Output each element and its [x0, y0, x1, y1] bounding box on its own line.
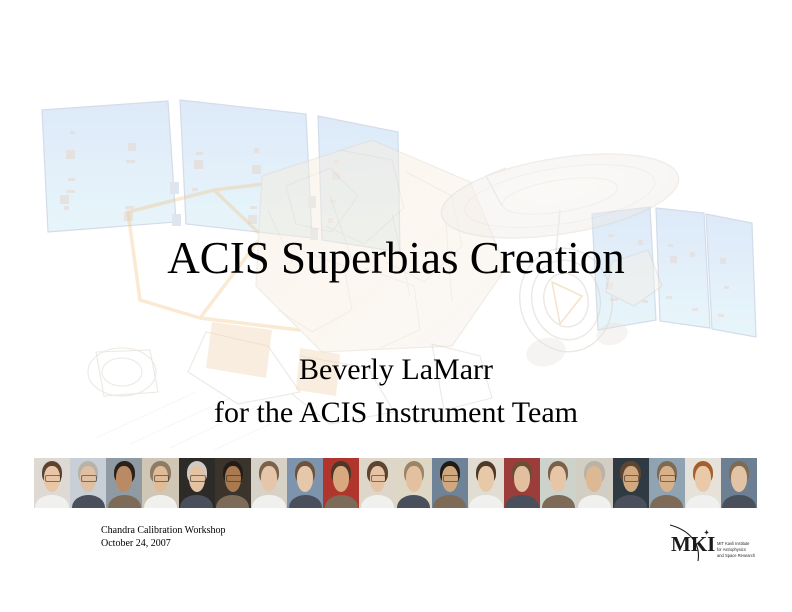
subtitle-author: Beverly LaMarr — [0, 348, 792, 391]
photo-glasses — [660, 475, 676, 482]
photo-face — [514, 466, 530, 492]
title-container: ACIS Superbias Creation — [0, 232, 792, 284]
team-member-photo — [685, 458, 721, 508]
page-title: ACIS Superbias Creation — [0, 232, 792, 284]
photo-glasses — [371, 475, 387, 482]
team-member-photo — [287, 458, 323, 508]
team-member-photo — [721, 458, 757, 508]
photo-glasses — [45, 475, 61, 482]
photo-glasses — [624, 475, 640, 482]
footer-date: October 24, 2007 — [101, 537, 226, 550]
team-member-photo — [34, 458, 70, 508]
team-member-photo — [432, 458, 468, 508]
photo-face — [261, 466, 277, 492]
photo-glasses — [154, 475, 170, 482]
logo-line-3: and Space Research — [717, 553, 756, 558]
team-member-photo — [142, 458, 178, 508]
team-member-photo — [613, 458, 649, 508]
team-member-photo — [215, 458, 251, 508]
photo-face — [406, 466, 422, 492]
subtitle-container: Beverly LaMarr for the ACIS Instrument T… — [0, 348, 792, 434]
mit-kavli-institute-logo: MKI MIT Kavli Institute for Astrophysics… — [663, 523, 769, 563]
acis-instrument-team-photo-strip — [34, 458, 757, 508]
team-member-photo — [70, 458, 106, 508]
presentation-slide: ACIS Superbias Creation Beverly LaMarr f… — [0, 0, 792, 612]
team-member-photo — [540, 458, 576, 508]
logo-line-2: for Astrophysics — [717, 547, 746, 552]
photo-glasses — [81, 475, 97, 482]
photo-glasses — [190, 475, 206, 482]
team-member-photo — [179, 458, 215, 508]
footer-event-name: Chandra Calibration Workshop — [101, 524, 226, 537]
team-member-photo — [649, 458, 685, 508]
logo-line-1: MIT Kavli Institute — [717, 541, 750, 546]
team-member-photo — [323, 458, 359, 508]
photo-glasses — [443, 475, 459, 482]
footer: Chandra Calibration Workshop October 24,… — [101, 524, 226, 550]
subtitle-team: for the ACIS Instrument Team — [0, 391, 792, 434]
photo-glasses — [226, 475, 242, 482]
photo-face — [731, 466, 747, 492]
team-member-photo — [396, 458, 432, 508]
team-member-photo — [359, 458, 395, 508]
chandra-spacecraft-watermark-image — [0, 0, 792, 612]
photo-face — [695, 466, 711, 492]
logo-mark-text: MKI — [671, 532, 715, 556]
team-member-photo — [251, 458, 287, 508]
team-member-photo — [576, 458, 612, 508]
team-member-photo — [504, 458, 540, 508]
team-member-photo — [468, 458, 504, 508]
team-member-photo — [106, 458, 142, 508]
photo-face — [478, 466, 494, 492]
